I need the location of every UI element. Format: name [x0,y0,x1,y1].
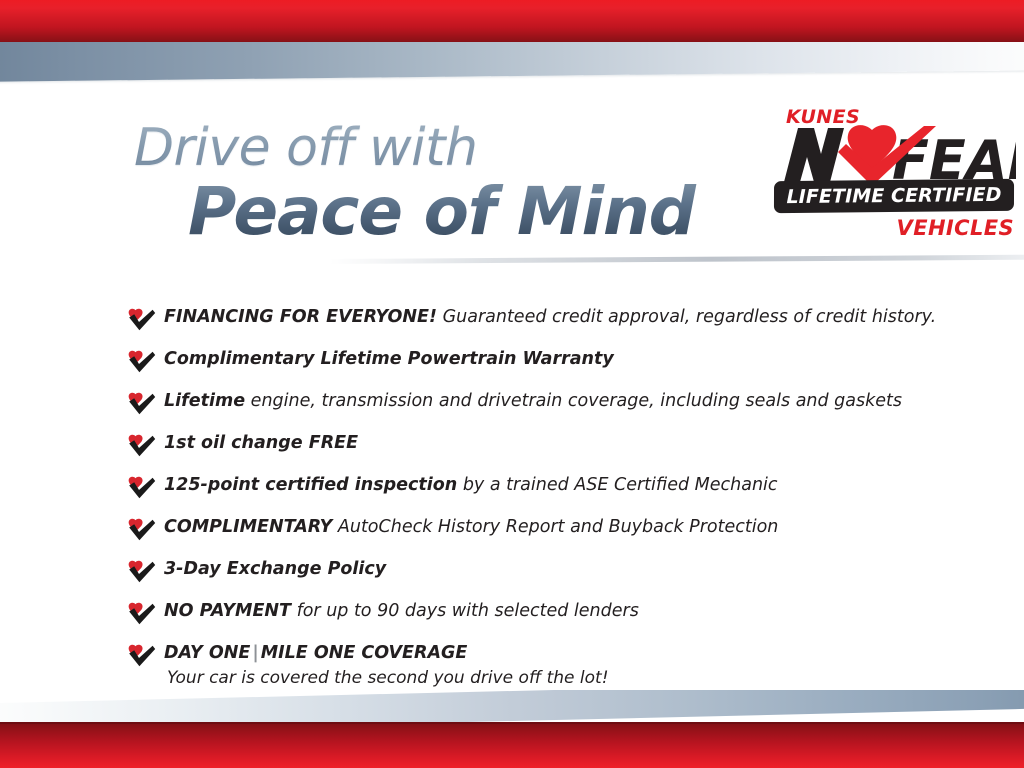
benefit-bold: NO PAYMENT [164,601,291,621]
benefit-separator: | [250,643,260,663]
header-divider [330,255,1024,264]
benefit-item-no-payment: NO PAYMENT for up to 90 days with select… [128,600,928,632]
kunes-no-fear-logo: KUNES FEAR LIFETIME CERTIFIED VEHICLES [772,106,1018,246]
benefit-item-day-one-mile-one: DAY ONE|MILE ONE COVERAGE Your car is co… [128,642,928,689]
benefit-normal: Guaranteed credit approval, regardless o… [437,307,936,327]
benefit-bold: 1st oil change FREE [164,433,358,453]
benefit-text: Complimentary Lifetime Powertrain Warran… [164,348,928,370]
heart-check-bullet-icon [128,434,156,458]
benefit-item-autocheck: COMPLIMENTARY AutoCheck History Report a… [128,516,928,548]
logo-lifetime-certified-bar: LIFETIME CERTIFIED [774,179,1014,214]
bottom-red-band [0,722,1024,768]
benefit-bold: Lifetime [164,391,245,411]
benefit-bold: Complimentary Lifetime Powertrain Warran… [164,349,614,369]
benefit-normal: AutoCheck History Report and Buyback Pro… [332,517,778,537]
benefit-bold: FINANCING FOR EVERYONE! [164,307,437,327]
top-slate-band [0,42,1024,90]
benefit-text: DAY ONE|MILE ONE COVERAGE [164,642,928,664]
benefit-normal: by a trained ASE Certified Mechanic [457,475,777,495]
benefit-item-exchange-policy: 3-Day Exchange Policy [128,558,928,590]
benefit-text: FINANCING FOR EVERYONE! Guaranteed credi… [164,306,928,328]
benefit-item-inspection: 125-point certified inspection by a trai… [128,474,928,506]
logo-vehicles-wordmark: VEHICLES [897,216,1014,240]
benefit-text: COMPLIMENTARY AutoCheck History Report a… [164,516,928,538]
benefit-bold: COMPLIMENTARY [164,517,332,537]
benefit-subtext: Your car is covered the second you drive… [167,667,928,689]
benefit-normal: for up to 90 days with selected lenders [291,601,639,621]
benefit-bold-secondary: MILE ONE COVERAGE [261,643,468,663]
logo-no-fear-mark: FEAR [776,124,1016,186]
benefit-text: NO PAYMENT for up to 90 days with select… [164,600,928,622]
headline-line-1: Drive off with [134,122,734,175]
benefit-item-financing: FINANCING FOR EVERYONE! Guaranteed credi… [128,306,928,338]
heart-check-bullet-icon [128,392,156,416]
logo-lifetime-certified-text: LIFETIME CERTIFIED [774,179,1014,214]
headline-line-2: Peace of Mind [188,177,734,247]
benefit-bold: 125-point certified inspection [164,475,457,495]
benefit-text: 125-point certified inspection by a trai… [164,474,928,496]
benefit-normal: engine, transmission and drivetrain cove… [245,391,902,411]
benefit-text: Lifetime engine, transmission and drivet… [164,390,928,412]
heart-check-bullet-icon [128,518,156,542]
benefit-text: 3-Day Exchange Policy [164,558,928,580]
benefit-item-oil-change: 1st oil change FREE [128,432,928,464]
bottom-slate-band [0,690,1024,724]
headline: Drive off with Peace of Mind [134,122,734,247]
benefit-bold-primary: DAY ONE [164,643,250,663]
heart-check-bullet-icon [128,308,156,332]
top-red-band [0,0,1024,44]
advertisement-canvas: Drive off with Peace of Mind KUNES FEAR … [0,0,1024,768]
benefit-item-lifetime-coverage: Lifetime engine, transmission and drivet… [128,390,928,422]
heart-check-bullet-icon [128,602,156,626]
heart-check-bullet-icon [128,560,156,584]
benefits-list: FINANCING FOR EVERYONE! Guaranteed credi… [128,306,928,689]
heart-check-bullet-icon [128,476,156,500]
heart-check-bullet-icon [128,350,156,374]
benefit-item-powertrain-warranty: Complimentary Lifetime Powertrain Warran… [128,348,928,380]
heart-check-bullet-icon [128,644,156,668]
benefit-text: 1st oil change FREE [164,432,928,454]
benefit-bold: 3-Day Exchange Policy [164,559,386,579]
